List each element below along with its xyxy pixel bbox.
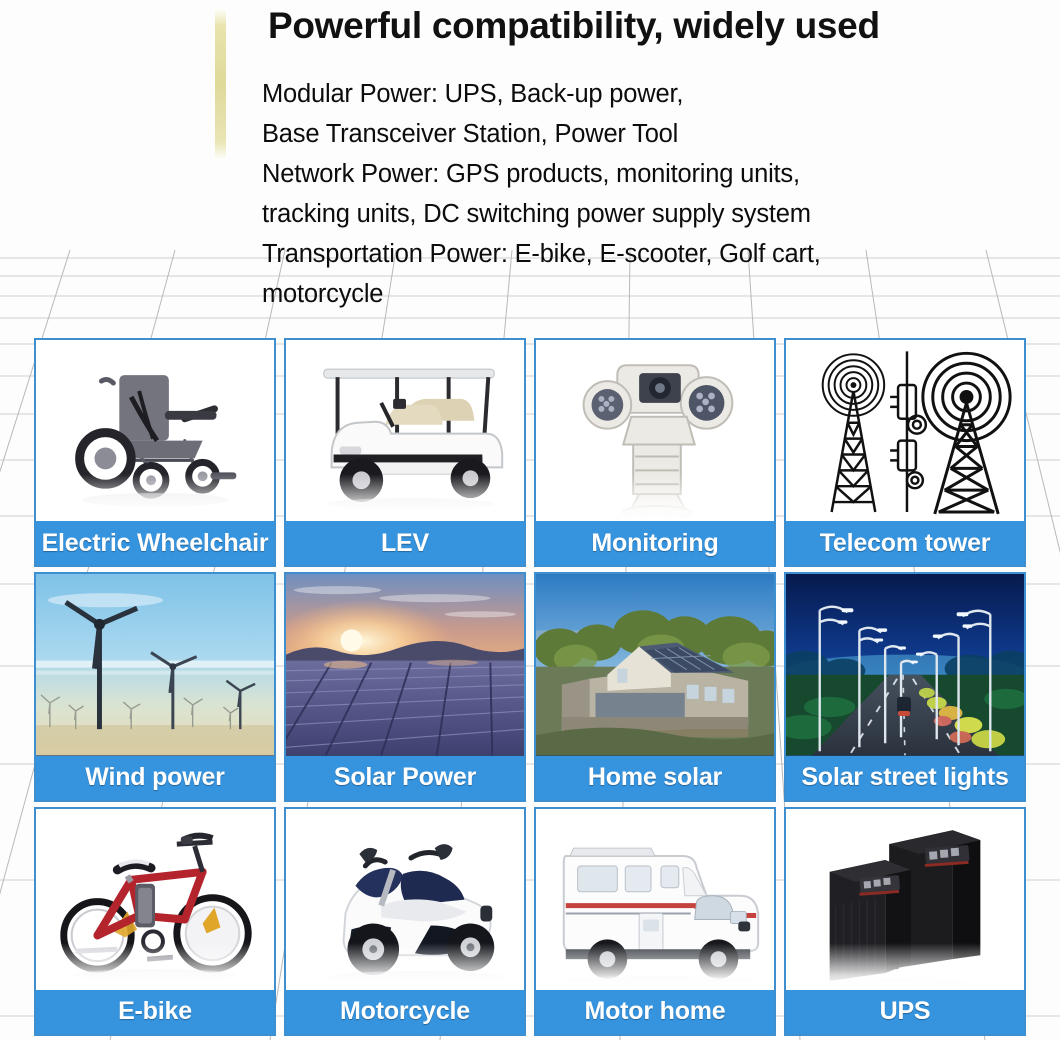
rooftop-solar-house-icon: [536, 574, 774, 755]
description-line: Transportation Power: E-bike, E-scooter,…: [262, 234, 962, 274]
card-label: E-bike: [36, 990, 274, 1034]
application-card[interactable]: UPS: [784, 807, 1026, 1036]
application-card[interactable]: E-bike: [34, 807, 276, 1036]
header-block: Powerful compatibility, widely used Modu…: [0, 0, 1060, 318]
card-label: Telecom tower: [786, 521, 1024, 565]
application-card[interactable]: Telecom tower: [784, 338, 1026, 567]
application-card[interactable]: Electric Wheelchair: [34, 338, 276, 567]
scooter-icon: [286, 809, 524, 990]
application-card[interactable]: Solar Power: [284, 572, 526, 801]
ptz-camera-icon: [536, 340, 774, 521]
description-line: Modular Power: UPS, Back-up power,: [262, 74, 962, 114]
card-label: Solar Power: [286, 756, 524, 800]
application-card[interactable]: Motorcycle: [284, 807, 526, 1036]
card-label: Home solar: [536, 756, 774, 800]
description-line: tracking units, DC switching power suppl…: [262, 194, 962, 234]
application-card[interactable]: LEV: [284, 338, 526, 567]
application-card-grid: Electric Wheelchair: [34, 338, 1026, 1036]
description-line: Network Power: GPS products, monitoring …: [262, 154, 962, 194]
ups-cabinet-icon: [786, 809, 1024, 990]
street-light-road-icon: [786, 574, 1024, 755]
yellow-accent-bar: [215, 8, 226, 160]
golf-cart-icon: [286, 340, 524, 521]
card-label: Motorcycle: [286, 990, 524, 1034]
application-card[interactable]: Motor home: [534, 807, 776, 1036]
telecom-tower-icon: [786, 340, 1024, 521]
card-label: LEV: [286, 521, 524, 565]
solar-farm-icon: [286, 574, 524, 755]
description-line: motorcycle: [262, 274, 962, 314]
card-label: Electric Wheelchair: [36, 521, 274, 565]
application-card[interactable]: Wind power: [34, 572, 276, 801]
wind-turbine-icon: [36, 574, 274, 755]
page-title: Powerful compatibility, widely used: [268, 3, 1028, 49]
card-label: Wind power: [36, 756, 274, 800]
application-card[interactable]: Solar street lights: [784, 572, 1026, 801]
rv-motorhome-icon: [536, 809, 774, 990]
description-list: Modular Power: UPS, Back-up power, Base …: [262, 74, 962, 314]
electric-bicycle-icon: [36, 809, 274, 990]
card-label: Motor home: [536, 990, 774, 1034]
electric-wheelchair-icon: [36, 340, 274, 521]
description-line: Base Transceiver Station, Power Tool: [262, 114, 962, 154]
card-label: UPS: [786, 990, 1024, 1034]
card-label: Monitoring: [536, 521, 774, 565]
product-compatibility-banner: Powerful compatibility, widely used Modu…: [0, 0, 1060, 1040]
card-label: Solar street lights: [786, 756, 1024, 800]
application-card[interactable]: Home solar: [534, 572, 776, 801]
application-card[interactable]: Monitoring: [534, 338, 776, 567]
